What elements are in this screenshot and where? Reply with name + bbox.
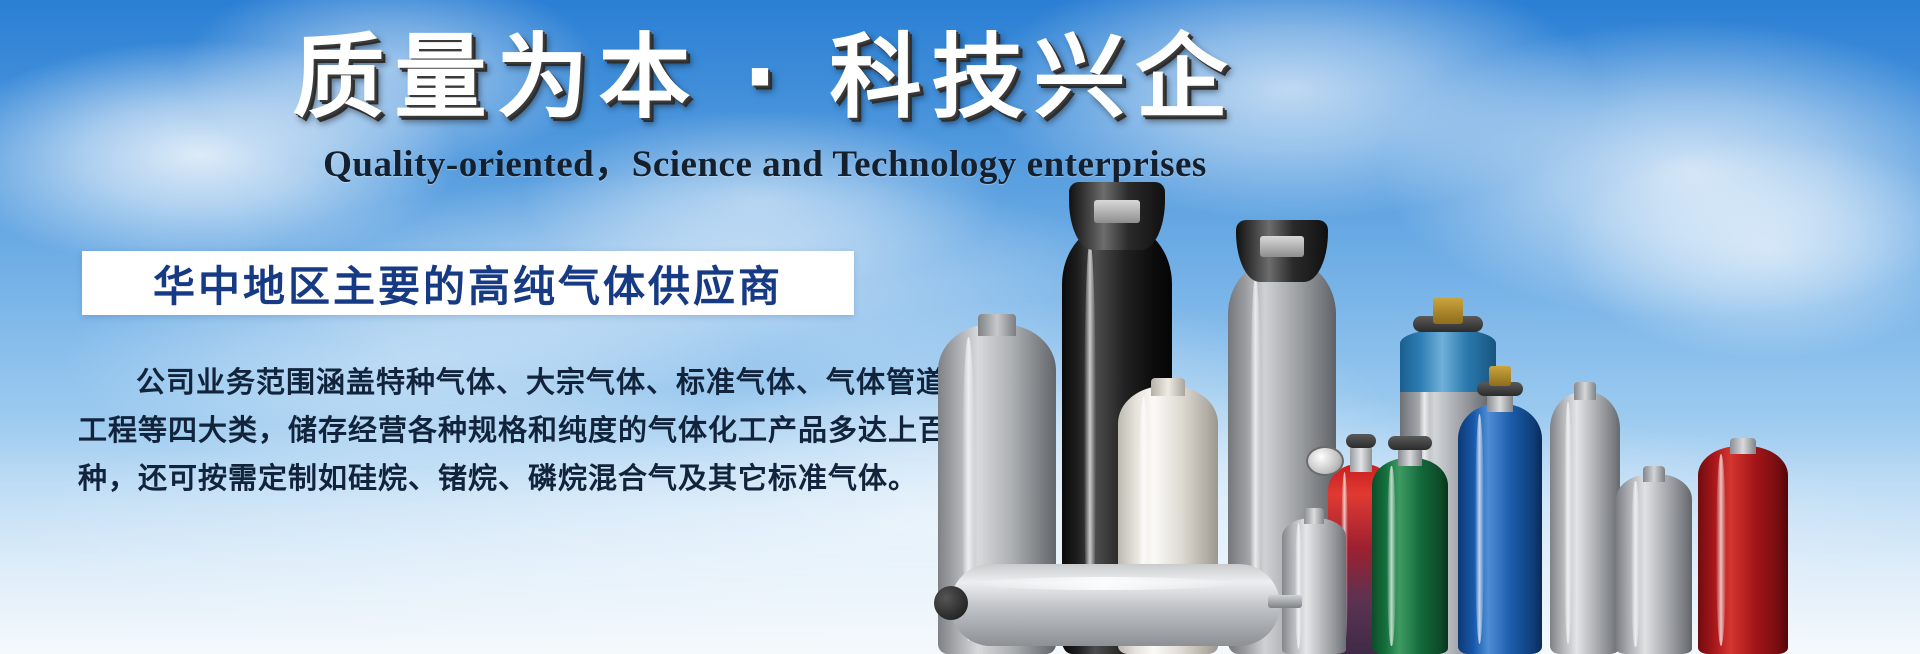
cylinder-green xyxy=(1372,458,1448,654)
cloud-shape xyxy=(1560,140,1920,360)
tank-nozzle xyxy=(1268,595,1302,608)
cylinder-gray-large-left xyxy=(938,324,1056,654)
tagline-box: 华中地区主要的高纯气体供应商 xyxy=(82,251,854,315)
cylinder-cap xyxy=(1236,220,1328,282)
cylinder-steel-blue xyxy=(1400,324,1496,654)
cylinder-black-tall xyxy=(1062,224,1172,654)
paragraph-line: 工程等四大类，储存经营各种规格和纯度的气体化工产品多达上百 xyxy=(78,406,868,454)
paragraph-line: 公司业务范围涵盖特种气体、大宗气体、标准气体、气体管道 xyxy=(78,358,868,406)
cylinder-red-small xyxy=(1328,464,1394,654)
cylinder-valve-knob xyxy=(1477,382,1523,396)
cylinder-aluminum-small xyxy=(1282,518,1346,654)
promo-banner: 质量为本 · 科技兴企 Quality-oriented，Science and… xyxy=(0,0,1920,654)
paragraph-line: 种，还可按需定制如硅烷、锗烷、磷烷混合气及其它标准气体。 xyxy=(78,454,868,502)
cylinder-valve-knob xyxy=(1388,436,1432,450)
tank-end-cap xyxy=(934,586,968,620)
cylinder-cap xyxy=(1069,182,1165,250)
cylinder-blue xyxy=(1458,404,1542,654)
pressure-gauge xyxy=(1306,446,1344,476)
cylinder-valve-knob xyxy=(1413,316,1483,332)
cylinder-gray-tall xyxy=(1228,259,1336,654)
cylinder-dark-red xyxy=(1698,446,1788,654)
cylinder-valve xyxy=(1489,366,1511,386)
description-paragraph: 公司业务范围涵盖特种气体、大宗气体、标准气体、气体管道 工程等四大类，储存经营各… xyxy=(78,358,868,502)
banner-subtitle: Quality-oriented，Science and Technology … xyxy=(0,133,1530,187)
cylinder-cream xyxy=(1118,386,1218,654)
banner-headline: 质量为本 · 科技兴企 xyxy=(0,24,1530,133)
tagline-text: 华中地区主要的高纯气体供应商 xyxy=(153,253,783,314)
tank-horizontal-gray xyxy=(950,564,1280,646)
cylinder-aluminum-medium xyxy=(1616,474,1692,654)
cylinder-valve-knob xyxy=(1346,434,1376,448)
cylinder-aluminum-tall xyxy=(1550,392,1620,654)
cylinder-valve xyxy=(1433,298,1463,324)
cylinder-shoulder-band xyxy=(1400,330,1496,392)
